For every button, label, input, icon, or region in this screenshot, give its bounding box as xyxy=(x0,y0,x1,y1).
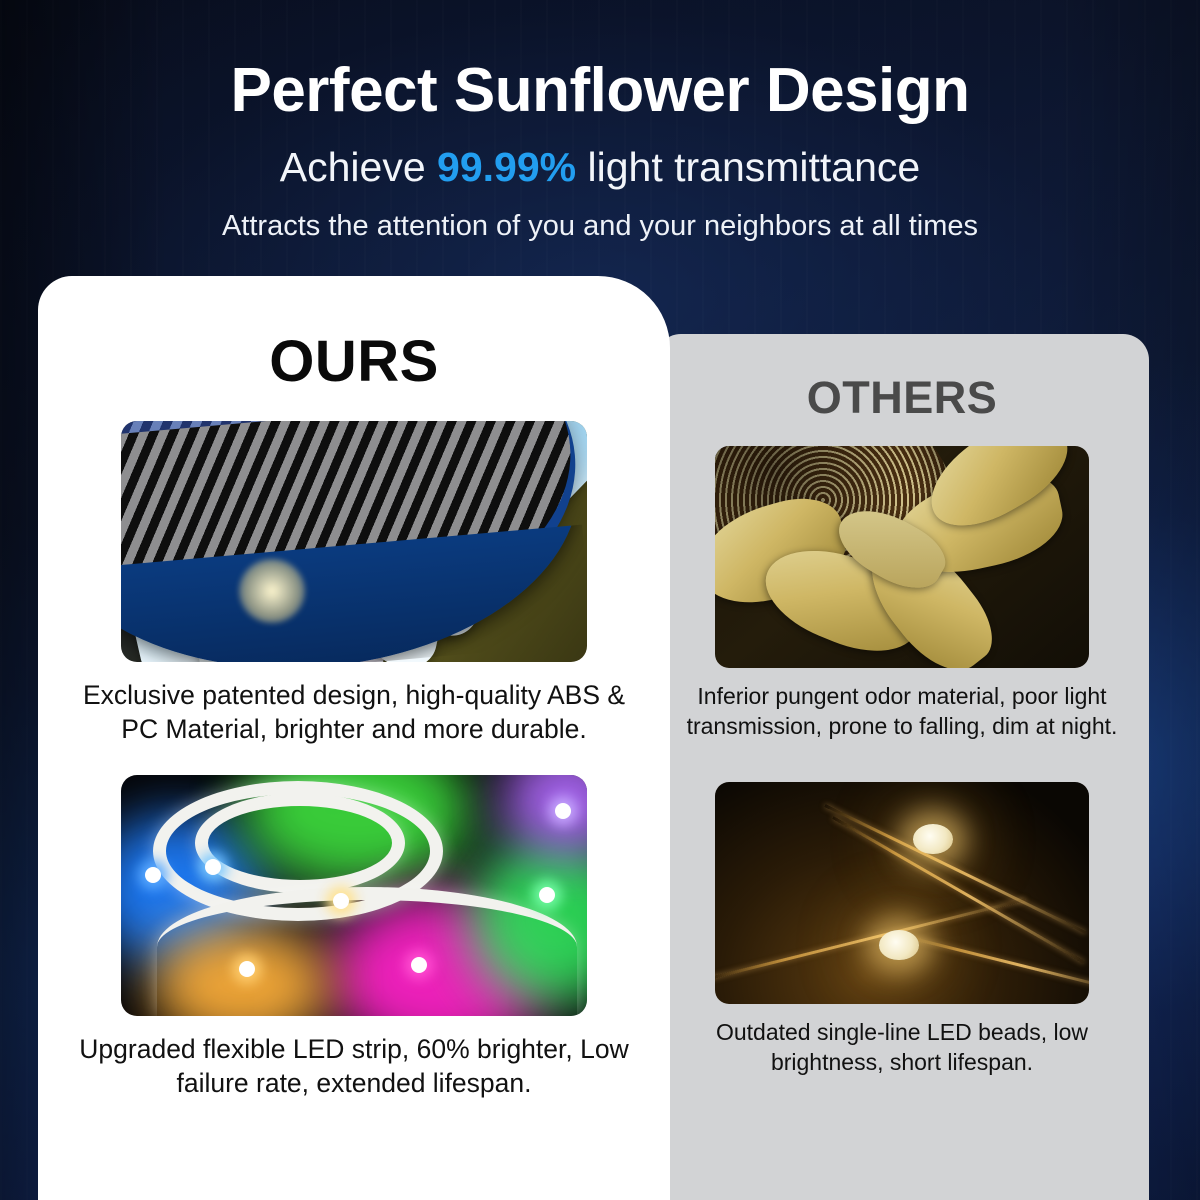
subtitle-prefix: Achieve xyxy=(280,144,437,190)
others-card: OTHERS Inferior pungent odor material, p… xyxy=(655,334,1149,1200)
led-point-warm xyxy=(333,893,349,909)
subtitle: Achieve 99.99% light transmittance xyxy=(0,145,1200,190)
led-bead xyxy=(913,824,953,854)
transmittance-value: 99.99% xyxy=(437,144,576,190)
ours-caption-2: Upgraded flexible LED strip, 60% brighte… xyxy=(64,1032,644,1101)
page-title: Perfect Sunflower Design xyxy=(0,58,1200,123)
led-wire xyxy=(824,804,1086,934)
led-point-cyan xyxy=(205,859,221,875)
sunflower-solar-lens-image xyxy=(121,421,587,662)
rgb-led-strip-image xyxy=(121,775,587,1016)
led-point-violet xyxy=(555,803,571,819)
infographic-page: Perfect Sunflower Design Achieve 99.99% … xyxy=(0,0,1200,1200)
strip-glow-violet xyxy=(501,775,587,855)
led-point-blue xyxy=(145,867,161,883)
others-caption-2: Outdated single-line LED beads, low brig… xyxy=(677,1018,1127,1078)
led-point-amber xyxy=(239,961,255,977)
lens-warm-glow xyxy=(239,559,305,623)
subtitle-suffix: light transmittance xyxy=(576,144,920,190)
header-block: Perfect Sunflower Design Achieve 99.99% … xyxy=(0,0,1200,244)
others-heading: OTHERS xyxy=(655,372,1149,424)
led-wire xyxy=(901,934,1089,993)
led-point-green xyxy=(539,887,555,903)
led-wire xyxy=(832,816,1085,964)
ours-card: OURS Exclusive patented design, high-qua… xyxy=(38,276,670,1200)
tagline: Attracts the attention of you and your n… xyxy=(0,210,1200,243)
strip-tail xyxy=(157,887,577,1016)
ours-heading: OURS xyxy=(38,328,670,395)
dim-plastic-sunflower-image xyxy=(715,446,1089,668)
led-point-pink xyxy=(411,957,427,973)
led-wire xyxy=(715,898,1026,981)
others-caption-1: Inferior pungent odor material, poor lig… xyxy=(677,682,1127,742)
led-bead xyxy=(879,930,919,960)
ours-caption-1: Exclusive patented design, high-quality … xyxy=(64,678,644,747)
single-line-led-beads-image xyxy=(715,782,1089,1004)
